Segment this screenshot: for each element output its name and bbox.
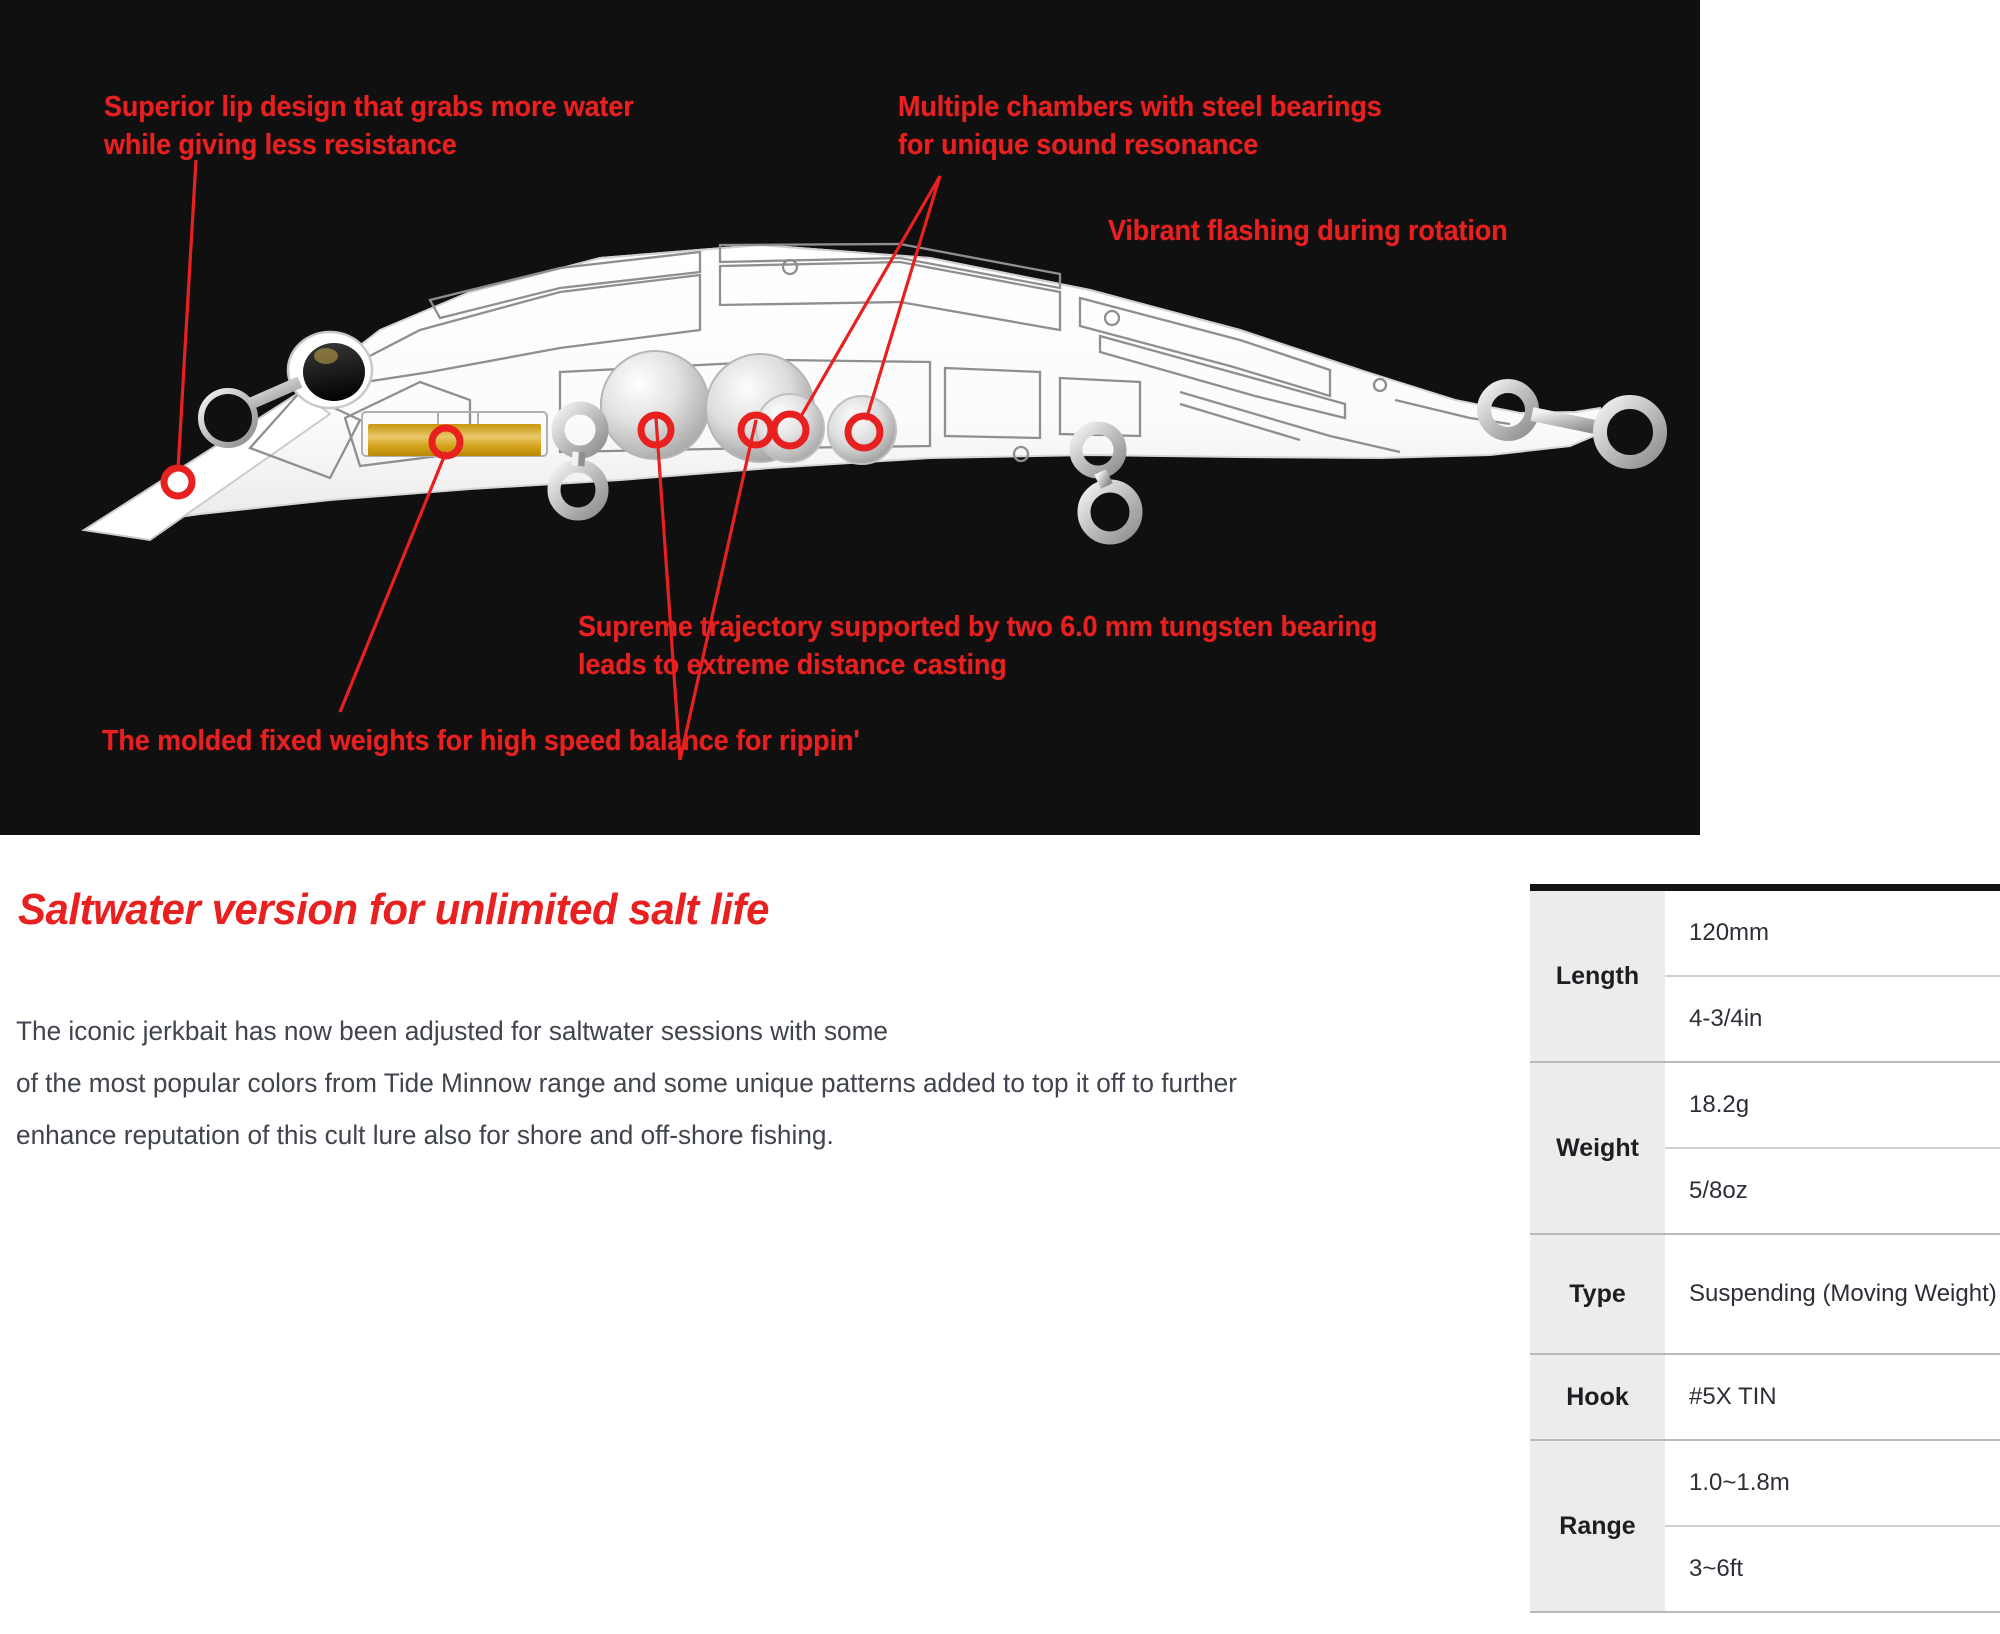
spec-label-weight: Weight	[1530, 1062, 1665, 1234]
paragraph-line: of the most popular colors from Tide Min…	[16, 1057, 1442, 1109]
callout-chambers: Multiple chambers with steel bearings fo…	[898, 88, 1382, 165]
paragraph-line: enhance reputation of this cult lure als…	[16, 1109, 1442, 1161]
callout-molded-weights: The molded fixed weights for high speed …	[102, 722, 860, 760]
callout-lip-design: Superior lip design that grabs more wate…	[104, 88, 634, 165]
spec-label-range: Range	[1530, 1440, 1665, 1612]
spec-value-range-m: 1.0~1.8m	[1665, 1440, 2000, 1526]
spec-label-length: Length	[1530, 888, 1665, 1063]
spec-value-range-ft: 3~6ft	[1665, 1526, 2000, 1612]
spec-value-type: Suspending (Moving Weight)	[1665, 1234, 2000, 1354]
table-row: Length 120mm	[1530, 888, 2000, 977]
spec-label-type: Type	[1530, 1234, 1665, 1354]
table-row: Hook #5X TIN	[1530, 1354, 2000, 1440]
product-diagram-panel: Superior lip design that grabs more wate…	[0, 0, 1700, 835]
spec-value-weight-oz: 5/8oz	[1665, 1148, 2000, 1234]
callout-flashing: Vibrant flashing during rotation	[1108, 212, 1508, 250]
specifications-table: Length 120mm 4-3/4in Weight 18.2g 5/8oz …	[1530, 884, 2000, 1613]
spec-value-length-mm: 120mm	[1665, 888, 2000, 977]
callout-tungsten-bearings: Supreme trajectory supported by two 6.0 …	[578, 608, 1377, 685]
spec-value-weight-g: 18.2g	[1665, 1062, 2000, 1148]
table-row: Type Suspending (Moving Weight)	[1530, 1234, 2000, 1354]
table-row: Range 1.0~1.8m	[1530, 1440, 2000, 1526]
table-row: Weight 18.2g	[1530, 1062, 2000, 1148]
section-headline: Saltwater version for unlimited salt lif…	[18, 885, 769, 935]
description-paragraph: The iconic jerkbait has now been adjuste…	[16, 1005, 1442, 1161]
lure-eye	[288, 332, 372, 408]
paragraph-line: The iconic jerkbait has now been adjuste…	[16, 1005, 1442, 1057]
spec-value-length-in: 4-3/4in	[1665, 976, 2000, 1062]
spec-value-hook: #5X TIN	[1665, 1354, 2000, 1440]
spec-label-hook: Hook	[1530, 1354, 1665, 1440]
